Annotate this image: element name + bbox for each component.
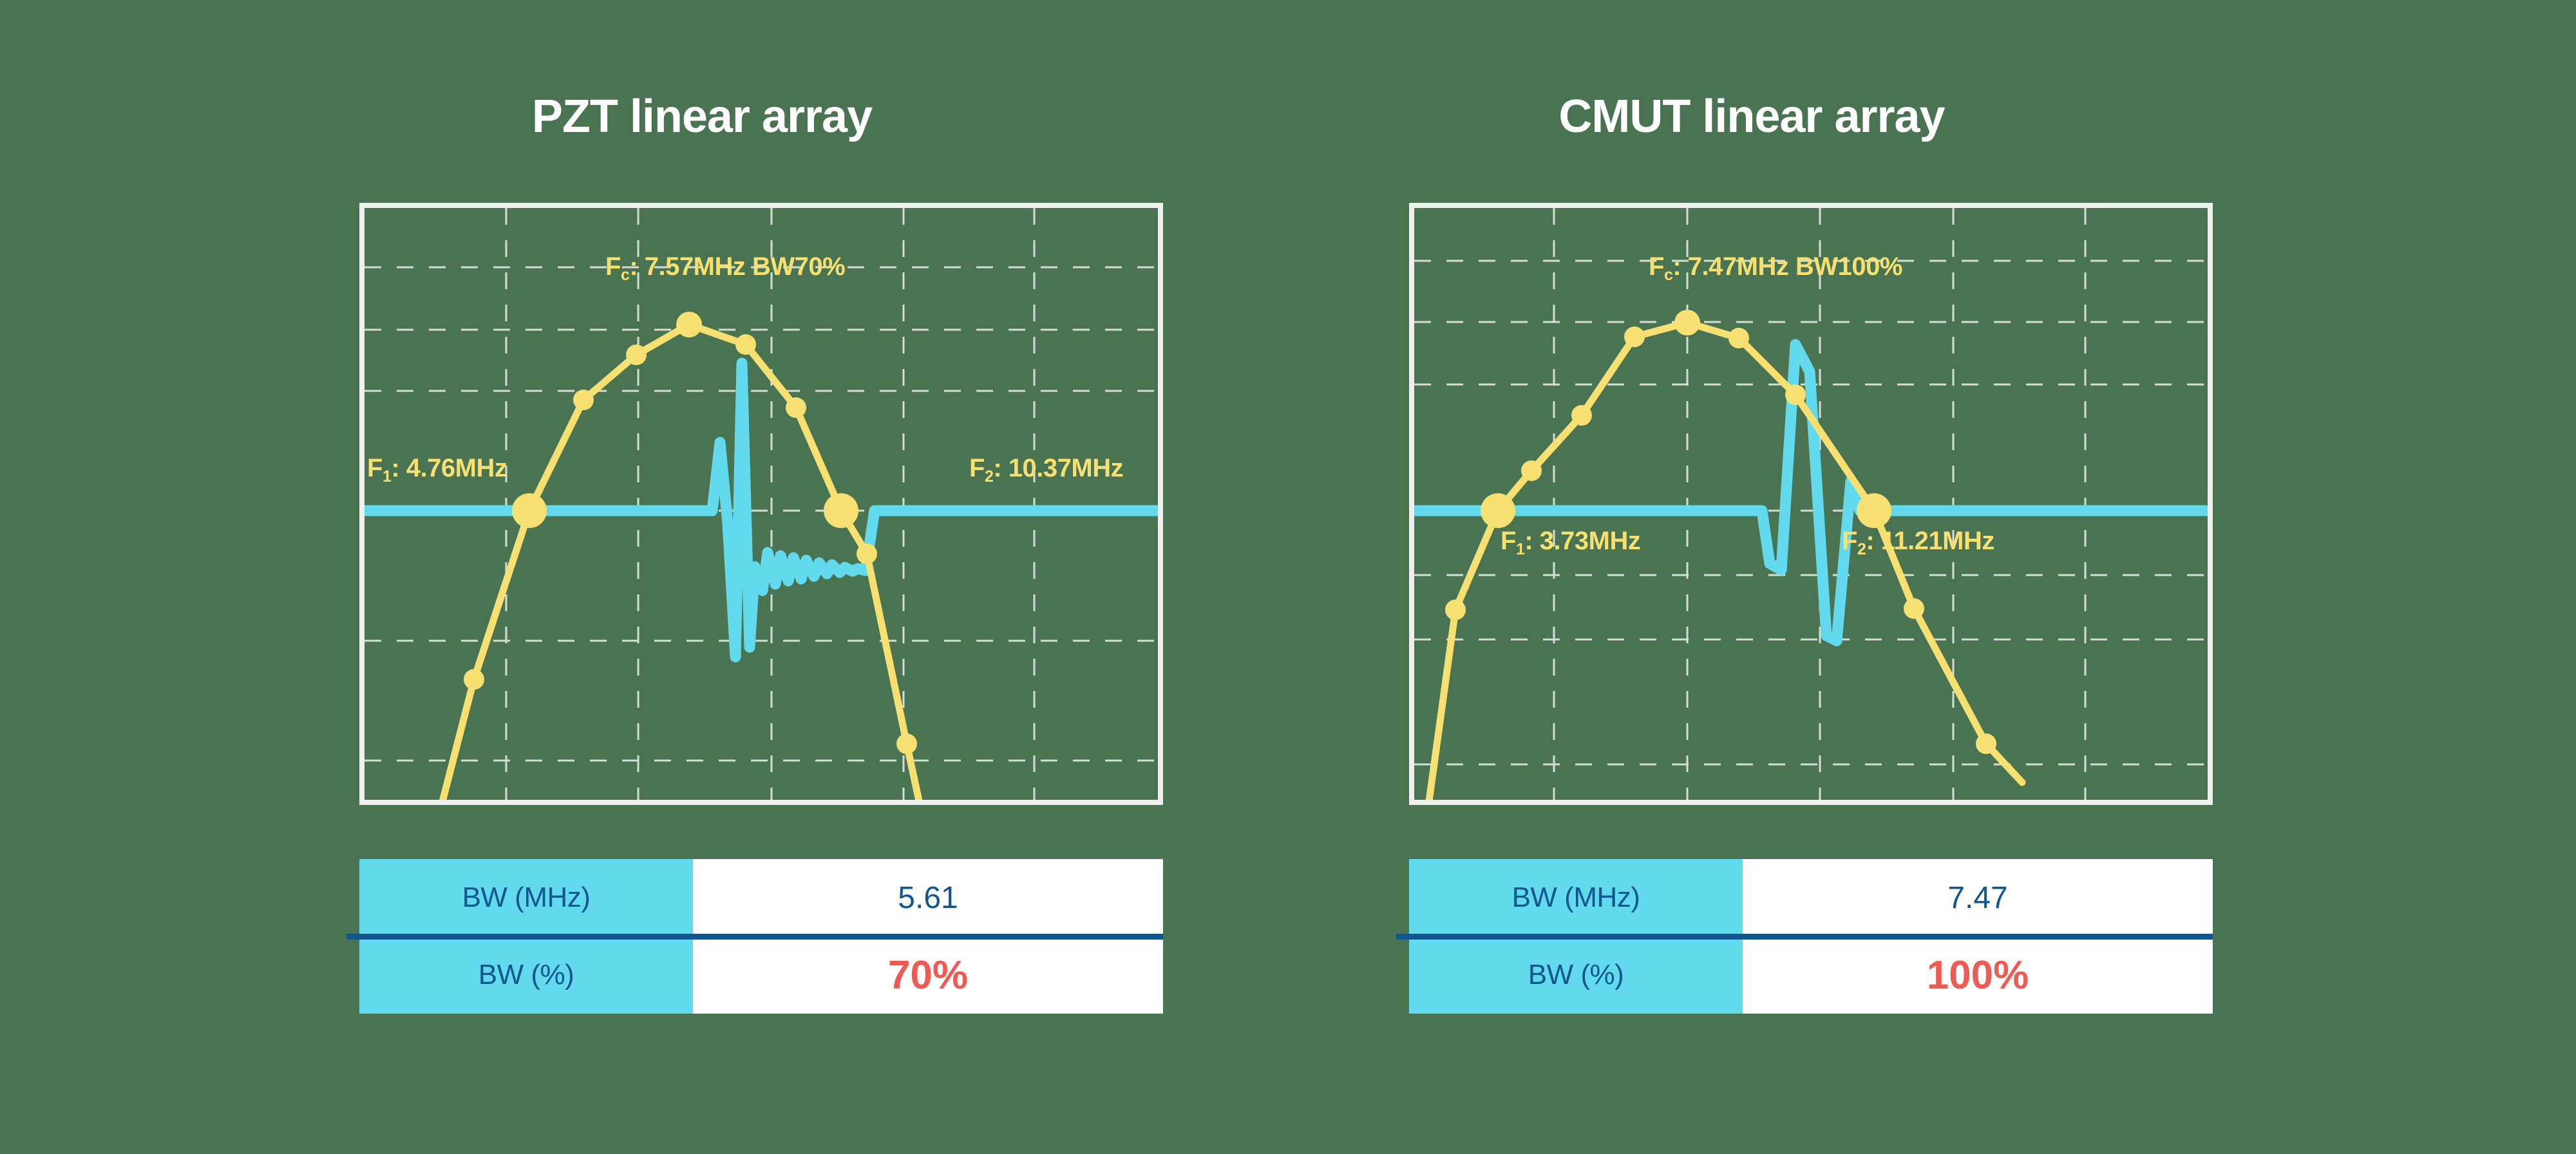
annotation-fc-prefix-pzt: F	[605, 252, 621, 281]
annotation-fc-text-cmut: : 7.47MHz BW100%	[1672, 252, 1902, 281]
annotation-fc-sub-pzt: c	[621, 266, 629, 284]
annotation-f1-cmut: F1: 3.73MHz	[1501, 527, 1640, 556]
bw-pct-value-pzt: 70%	[693, 936, 1163, 1014]
panel-title-pzt: PZT linear array	[238, 90, 1166, 143]
plot-svg-pzt	[359, 203, 1163, 805]
annotation-fc-cmut: Fc: 7.47MHz BW100%	[1649, 252, 1902, 281]
table-row: BW (%) 70%	[359, 936, 1163, 1014]
annotation-fc-sub-cmut: c	[1664, 266, 1672, 284]
plot-frame-cmut	[1409, 203, 2213, 805]
annotation-fc-pzt: Fc: 7.57MHz BW70%	[605, 252, 845, 281]
impulse-response-curve-cmut	[1414, 345, 2208, 641]
annotation-f2-cmut: F2: 11.21MHz	[1842, 527, 1994, 556]
annotation-f1-prefix-cmut: F	[1501, 527, 1516, 555]
bw-mhz-label-cmut: BW (MHz)	[1409, 859, 1743, 936]
bw-mhz-value-cmut: 7.47	[1743, 859, 2213, 936]
annotation-f2-text-cmut: : 11.21MHz	[1866, 527, 1994, 555]
frequency-response-curve-cmut	[1425, 323, 2022, 834]
table-row: BW (MHz) 5.61	[359, 859, 1163, 936]
annotation-f1-prefix-pzt: F	[367, 454, 383, 482]
annotation-f1-pzt: F1: 4.76MHz	[367, 454, 507, 483]
annotation-f1-sub-pzt: 1	[383, 468, 391, 486]
panel-pzt: PZT linear array	[238, 0, 1166, 1154]
grid-lines-cmut	[1414, 208, 2208, 800]
bw-mhz-value-pzt: 5.61	[693, 859, 1163, 936]
annotation-f1-text-cmut: : 3.73MHz	[1524, 527, 1640, 555]
annotation-f1-text-pzt: : 4.76MHz	[391, 454, 507, 482]
panel-title-cmut: CMUT linear array	[1288, 90, 2215, 143]
bw-pct-label-pzt: BW (%)	[359, 936, 693, 1014]
frequency-response-markers-pzt	[464, 312, 917, 754]
annotation-f2-text-pzt: : 10.37MHz	[993, 454, 1123, 482]
table-row: BW (MHz) 7.47	[1409, 859, 2213, 936]
table-row: BW (%) 100%	[1409, 936, 2213, 1014]
frequency-response-curve-pzt	[434, 325, 926, 834]
table-row-divider-cmut	[1396, 934, 2213, 940]
annotation-f2-prefix-pzt: F	[969, 454, 985, 482]
bw-pct-label-cmut: BW (%)	[1409, 936, 1743, 1014]
annotation-f2-pzt: F2: 10.37MHz	[969, 454, 1123, 483]
bw-mhz-label-pzt: BW (MHz)	[359, 859, 693, 936]
panel-cmut: CMUT linear array	[1288, 0, 2215, 1154]
annotation-fc-text-pzt: : 7.57MHz BW70%	[629, 252, 845, 281]
annotation-f2-prefix-cmut: F	[1842, 527, 1857, 555]
annotation-f2-sub-pzt: 2	[985, 468, 993, 486]
annotation-f1-sub-cmut: 1	[1516, 540, 1524, 558]
grid-lines-pzt	[365, 208, 1158, 800]
plot-svg-cmut	[1409, 203, 2213, 805]
annotation-f2-sub-cmut: 2	[1857, 540, 1866, 558]
annotation-fc-prefix-cmut: F	[1649, 252, 1664, 281]
plot-area-cmut	[1414, 208, 2208, 800]
bw-pct-value-cmut: 100%	[1743, 936, 2213, 1014]
plot-frame-pzt	[359, 203, 1163, 805]
plot-area-pzt	[365, 208, 1158, 800]
figure-canvas: PZT linear array	[0, 0, 2576, 1154]
table-row-divider-pzt	[346, 934, 1163, 940]
